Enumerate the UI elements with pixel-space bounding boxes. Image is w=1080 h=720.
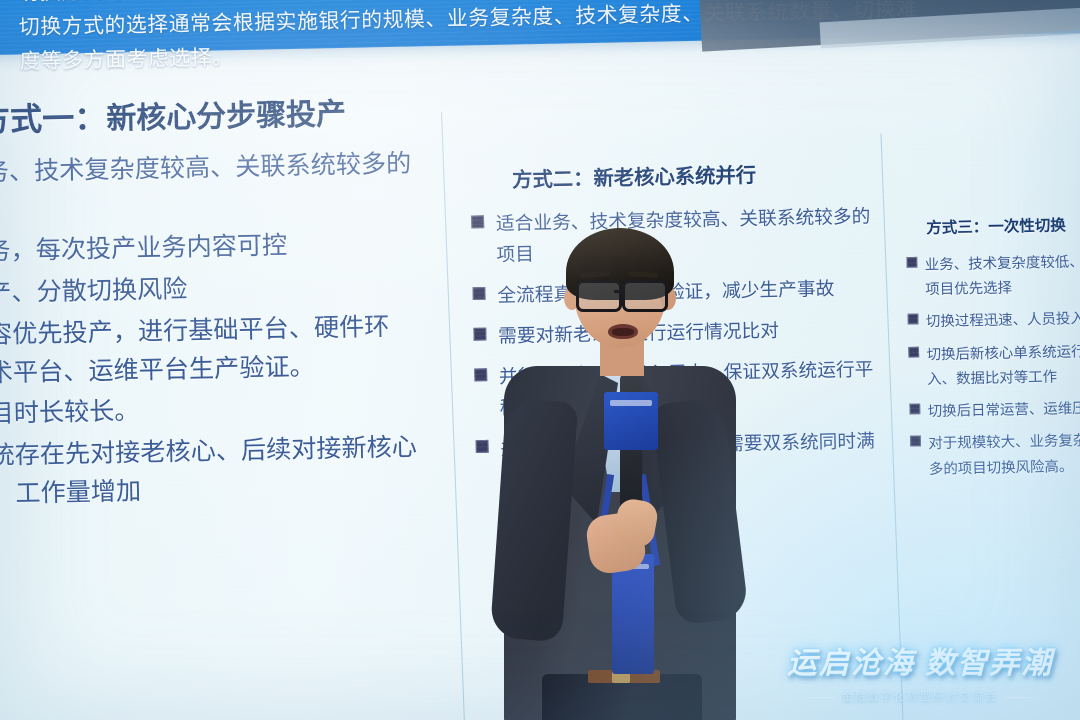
event-subtitle-wrap: 金融数字化转型研讨交流会: [770, 688, 1070, 704]
bullet-text: 部分内容优先投产，进行基础平台、硬件环境、技术平台、运维平台生产验证。: [0, 312, 390, 388]
column-one-bullets: 适合业务、技术复杂度较高、关联系统较多的项目 拆分业务，每次投产业务内容可控 多…: [0, 145, 439, 516]
bullet-text: 拆分业务，每次投产业务内容可控: [0, 231, 287, 266]
speaker-badge: [612, 554, 654, 674]
bullet-text: 业务、技术复杂度较低、关联较少的项目优先选择: [925, 252, 1080, 298]
square-bullet-icon: [909, 404, 920, 415]
banner-line-3: 度等多方面考虑选择。: [19, 39, 234, 74]
square-bullet-icon: [906, 257, 917, 268]
event-watermark: 运启沧海 数智弄潮 金融数字化转型研讨交流会: [770, 638, 1070, 704]
square-bullet-icon: [473, 328, 486, 341]
column-three-bullets: 业务、技术复杂度较低、关联较少的项目优先选择 切换过程迅速、人员投入较少 切换后…: [901, 248, 1080, 482]
bullet-text: 切换后日常运营、运维压力小: [928, 400, 1080, 420]
rule-right: [1005, 697, 1031, 698]
event-slogan: 运启沧海 数智弄潮: [770, 638, 1070, 682]
column-two-title: 新老核心系统并行: [593, 165, 756, 191]
square-bullet-icon: [471, 215, 484, 228]
list-item: 切换后日常运营、运维压力小: [904, 394, 1080, 424]
bullet-text: 部分系统存在先对接老核心、后续对接新核心的情况，工作量增加: [0, 433, 417, 509]
eyeglasses-bridge: [614, 290, 624, 293]
column-two-label: 方式二：: [512, 168, 594, 192]
square-bullet-icon: [910, 436, 921, 447]
bullet-text: 切换过程迅速、人员投入较少: [926, 310, 1080, 330]
bullet-text: 对于规模较大、业务复杂、关联系统多的项目切换风险高。: [928, 431, 1080, 477]
event-subtitle: 金融数字化转型研讨交流会: [842, 691, 998, 703]
column-one-label: 方式一：: [0, 101, 107, 139]
eyeglasses-lens-left: [576, 280, 622, 312]
column-one-title: 新核心分步骤投产: [106, 97, 346, 135]
speaker-person: [496, 224, 744, 720]
list-item: 切换过程迅速、人员投入较少: [902, 305, 1080, 335]
list-item: 业务、技术复杂度较低、关联较少的项目优先选择: [901, 248, 1080, 303]
conference-photo: 方式一：新核心分步骤投产 适合业务、技术复杂度较高、关联系统较多的项目 拆分业务…: [0, 0, 1080, 720]
bullet-text: 适合业务、技术复杂度较高、关联系统较多的项目: [0, 149, 411, 225]
rule-left: [809, 697, 835, 698]
list-item: 切换后新核心单系统运行，无二次投入、数据比对等工作: [903, 337, 1080, 392]
square-bullet-icon: [473, 287, 486, 300]
column-divider-1: [441, 112, 466, 720]
list-item: 适合业务、技术复杂度较高、关联系统较多的项目: [0, 145, 434, 233]
bullet-text: 整体项目时长较长。: [0, 397, 140, 429]
eyeglasses-lens-right: [622, 280, 668, 312]
square-bullet-icon: [908, 314, 919, 325]
column-one-heading: 方式一：新核心分步骤投产: [0, 85, 432, 141]
list-item: 对于规模较大、业务复杂、关联系统多的项目切换风险高。: [905, 427, 1080, 482]
column-three-heading: 方式三：一次性切换: [926, 211, 1080, 238]
slide-column-three: 方式三：一次性切换 业务、技术复杂度较低、关联较少的项目优先选择 切换过程迅速、…: [900, 211, 1080, 489]
microphone-flag: [604, 392, 658, 450]
square-bullet-icon: [474, 368, 487, 381]
list-item: 部分内容优先投产，进行基础平台、硬件环境、技术平台、运维平台生产验证。: [0, 307, 437, 395]
speaker-mouth-inner: [612, 328, 634, 336]
bullet-text: 多次投产、分散切换风险: [0, 275, 188, 308]
column-three-title: 一次性切换: [988, 218, 1066, 237]
square-bullet-icon: [476, 440, 489, 453]
list-item: 部分系统存在先对接老核心、后续对接新核心的情况，工作量增加: [0, 428, 439, 516]
column-two-heading: 方式二：新老核心系统并行: [512, 157, 870, 193]
microphone-flag-marking: [610, 400, 652, 406]
slide-column-one: 方式一：新核心分步骤投产 适合业务、技术复杂度较高、关联系统较多的项目 拆分业务…: [0, 85, 440, 519]
bullet-text: 切换后新核心单系统运行，无二次投入、数据比对等工作: [926, 342, 1080, 388]
square-bullet-icon: [908, 346, 919, 357]
column-three-label: 方式三：: [926, 219, 988, 237]
